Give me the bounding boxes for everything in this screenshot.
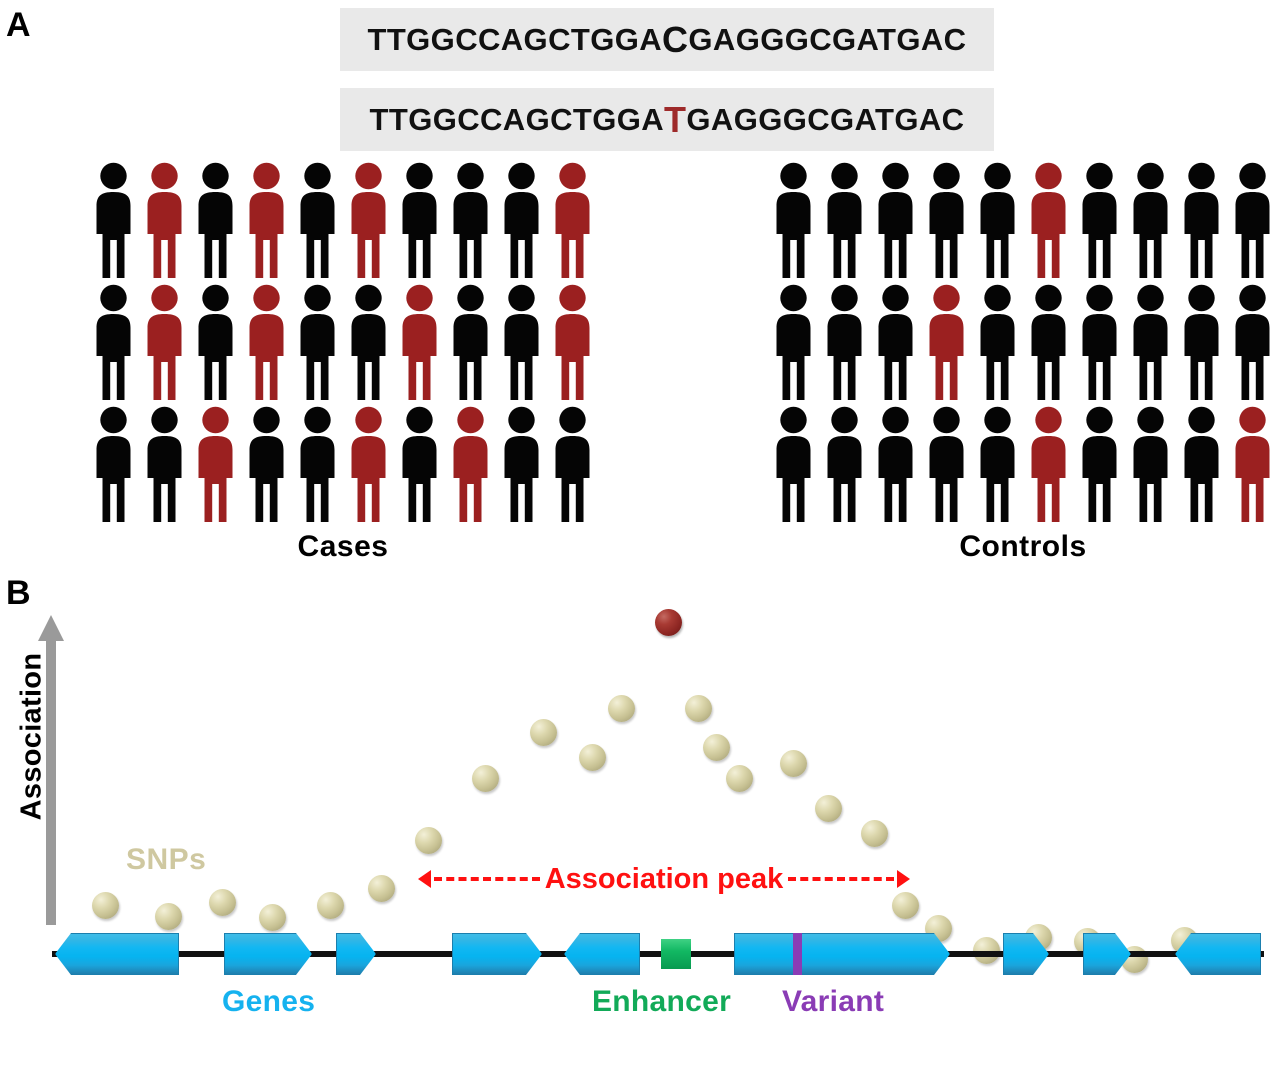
person-noncarrier: [88, 282, 139, 404]
arrow-right-head-icon: [897, 870, 910, 888]
person-noncarrier: [292, 404, 343, 526]
snp-marker: [685, 695, 712, 722]
person-icon: [292, 160, 343, 282]
person-icon: [190, 404, 241, 526]
person-noncarrier: [1023, 282, 1074, 404]
person-icon: [292, 282, 343, 404]
person-icon: [445, 160, 496, 282]
person-icon: [394, 282, 445, 404]
person-noncarrier: [921, 404, 972, 526]
person-noncarrier: [190, 282, 241, 404]
person-noncarrier: [190, 160, 241, 282]
gene-arrow-right: [734, 933, 950, 975]
person-noncarrier: [88, 404, 139, 526]
person-icon: [547, 404, 598, 526]
snp-marker: [415, 827, 442, 854]
snps-caption: SNPs: [126, 843, 206, 877]
person-noncarrier: [972, 282, 1023, 404]
arrow-left-head-icon: [418, 870, 431, 888]
person-noncarrier: [292, 160, 343, 282]
person-noncarrier: [1176, 404, 1227, 526]
alternate-allele: T: [664, 99, 686, 141]
snp-marker: [92, 892, 119, 919]
person-icon: [819, 282, 870, 404]
sequence-prefix: TTGGCCAGCTGGA: [370, 102, 665, 138]
association-peak-annotation: Association peak: [418, 863, 910, 895]
person-noncarrier: [921, 160, 972, 282]
snp-marker: [530, 719, 557, 746]
person-icon: [1227, 404, 1278, 526]
person-icon: [394, 404, 445, 526]
person-noncarrier: [1227, 160, 1278, 282]
person-carrier: [1023, 160, 1074, 282]
person-noncarrier: [139, 404, 190, 526]
person-icon: [190, 160, 241, 282]
person-noncarrier: [445, 282, 496, 404]
person-icon: [394, 160, 445, 282]
person-icon: [139, 160, 190, 282]
person-noncarrier: [768, 282, 819, 404]
person-icon: [445, 404, 496, 526]
person-icon: [496, 404, 547, 526]
legend-enhancer: Enhancer: [592, 985, 731, 1019]
person-icon: [1176, 282, 1227, 404]
legend-genes: Genes: [222, 985, 315, 1019]
person-icon: [1125, 404, 1176, 526]
person-noncarrier: [1074, 404, 1125, 526]
person-icon: [1074, 160, 1125, 282]
person-icon: [343, 160, 394, 282]
person-icon: [139, 404, 190, 526]
cases-label: Cases: [88, 530, 598, 564]
person-noncarrier: [1074, 160, 1125, 282]
snp-marker: [726, 765, 753, 792]
snp-marker: [472, 765, 499, 792]
gene-arrow-right: [336, 933, 376, 975]
person-icon: [972, 404, 1023, 526]
person-carrier: [190, 404, 241, 526]
gene-arrow-right: [224, 933, 312, 975]
person-carrier: [139, 160, 190, 282]
person-noncarrier: [870, 282, 921, 404]
dna-sequence-alternate: TTGGCCAGCTGGATGAGGGCGATGAC: [340, 88, 994, 151]
person-icon: [1074, 282, 1125, 404]
person-icon: [972, 160, 1023, 282]
panel-a-letter: A: [6, 6, 31, 45]
figure-canvas: A TTGGCCAGCTGGACGAGGGCGATGAC TTGGCCAGCTG…: [0, 0, 1280, 1084]
person-noncarrier: [1125, 404, 1176, 526]
person-noncarrier: [819, 160, 870, 282]
gene-arrow-left: [1175, 933, 1261, 975]
association-peak-label: Association peak: [543, 863, 786, 896]
person-icon: [139, 282, 190, 404]
person-noncarrier: [1125, 160, 1176, 282]
person-noncarrier: [972, 404, 1023, 526]
person-icon: [921, 404, 972, 526]
person-noncarrier: [1176, 282, 1227, 404]
sequence-suffix: GAGGGCGATGAC: [688, 22, 966, 58]
person-noncarrier: [547, 404, 598, 526]
person-carrier: [343, 160, 394, 282]
person-noncarrier: [445, 160, 496, 282]
genomic-gene-track: [0, 927, 1280, 979]
person-noncarrier: [496, 160, 547, 282]
person-carrier: [394, 282, 445, 404]
dashed-line-left: [434, 877, 540, 881]
person-icon: [1023, 282, 1074, 404]
gene-arrow-right: [1083, 933, 1131, 975]
person-icon: [870, 160, 921, 282]
person-noncarrier: [343, 282, 394, 404]
gene-arrow-right: [1003, 933, 1049, 975]
snp-marker: [703, 734, 730, 761]
person-noncarrier: [819, 282, 870, 404]
person-icon: [921, 282, 972, 404]
person-icon: [768, 282, 819, 404]
association-plot: Association SNPs Association peak Genes …: [0, 575, 1280, 1084]
person-noncarrier: [496, 404, 547, 526]
cases-group: Cases: [88, 160, 598, 564]
reference-allele: C: [662, 19, 688, 61]
person-icon: [1227, 160, 1278, 282]
person-noncarrier: [1227, 282, 1278, 404]
snp-marker: [815, 795, 842, 822]
person-icon: [1125, 160, 1176, 282]
person-icon: [343, 282, 394, 404]
person-carrier: [139, 282, 190, 404]
dna-sequence-reference: TTGGCCAGCTGGACGAGGGCGATGAC: [340, 8, 994, 71]
person-icon: [241, 282, 292, 404]
snp-marker: [368, 875, 395, 902]
person-noncarrier: [1074, 282, 1125, 404]
sequence-suffix: GAGGGCGATGAC: [686, 102, 964, 138]
lead-snp-marker: [655, 609, 682, 636]
person-carrier: [1023, 404, 1074, 526]
person-noncarrier: [972, 160, 1023, 282]
person-icon: [1125, 282, 1176, 404]
person-icon: [1023, 160, 1074, 282]
person-carrier: [547, 282, 598, 404]
person-noncarrier: [819, 404, 870, 526]
person-icon: [445, 282, 496, 404]
person-carrier: [1227, 404, 1278, 526]
association-axis-label: Association: [16, 637, 49, 837]
person-noncarrier: [870, 404, 921, 526]
person-icon: [1227, 282, 1278, 404]
person-icon: [496, 282, 547, 404]
person-icon: [547, 160, 598, 282]
gene-arrow-left: [55, 933, 179, 975]
gene-arrow-left: [564, 933, 640, 975]
person-icon: [870, 404, 921, 526]
person-noncarrier: [88, 160, 139, 282]
person-carrier: [445, 404, 496, 526]
controls-group: Controls: [768, 160, 1278, 564]
person-carrier: [241, 282, 292, 404]
person-icon: [870, 282, 921, 404]
person-icon: [88, 282, 139, 404]
person-icon: [496, 160, 547, 282]
person-icon: [921, 160, 972, 282]
person-icon: [1074, 404, 1125, 526]
person-noncarrier: [1125, 282, 1176, 404]
dashed-line-right: [788, 877, 894, 881]
snp-marker: [209, 889, 236, 916]
person-icon: [88, 160, 139, 282]
snp-marker: [861, 820, 888, 847]
snp-marker: [317, 892, 344, 919]
person-noncarrier: [870, 160, 921, 282]
person-icon: [1023, 404, 1074, 526]
person-noncarrier: [292, 282, 343, 404]
snp-marker: [892, 892, 919, 919]
person-icon: [190, 282, 241, 404]
gene-arrow-right: [452, 933, 542, 975]
snp-marker: [579, 744, 606, 771]
person-icon: [241, 404, 292, 526]
sequence-prefix: TTGGCCAGCTGGA: [368, 22, 663, 58]
person-noncarrier: [1176, 160, 1227, 282]
person-noncarrier: [768, 404, 819, 526]
person-icon: [1176, 404, 1227, 526]
person-noncarrier: [241, 404, 292, 526]
person-icon: [768, 404, 819, 526]
person-icon: [819, 160, 870, 282]
person-icon: [972, 282, 1023, 404]
person-carrier: [921, 282, 972, 404]
person-icon: [768, 160, 819, 282]
person-icon: [241, 160, 292, 282]
person-carrier: [547, 160, 598, 282]
variant-marker: [793, 933, 802, 975]
cases-people-grid: [88, 160, 598, 526]
person-icon: [292, 404, 343, 526]
snp-marker: [608, 695, 635, 722]
controls-people-grid: [768, 160, 1278, 526]
person-noncarrier: [768, 160, 819, 282]
controls-label: Controls: [768, 530, 1278, 564]
person-carrier: [343, 404, 394, 526]
snp-marker: [155, 903, 182, 930]
snp-marker: [780, 750, 807, 777]
person-carrier: [241, 160, 292, 282]
enhancer-element: [661, 939, 691, 969]
legend-variant: Variant: [782, 985, 884, 1019]
person-icon: [819, 404, 870, 526]
person-icon: [343, 404, 394, 526]
person-noncarrier: [394, 160, 445, 282]
person-icon: [1176, 160, 1227, 282]
person-icon: [88, 404, 139, 526]
person-noncarrier: [394, 404, 445, 526]
person-icon: [547, 282, 598, 404]
person-noncarrier: [496, 282, 547, 404]
